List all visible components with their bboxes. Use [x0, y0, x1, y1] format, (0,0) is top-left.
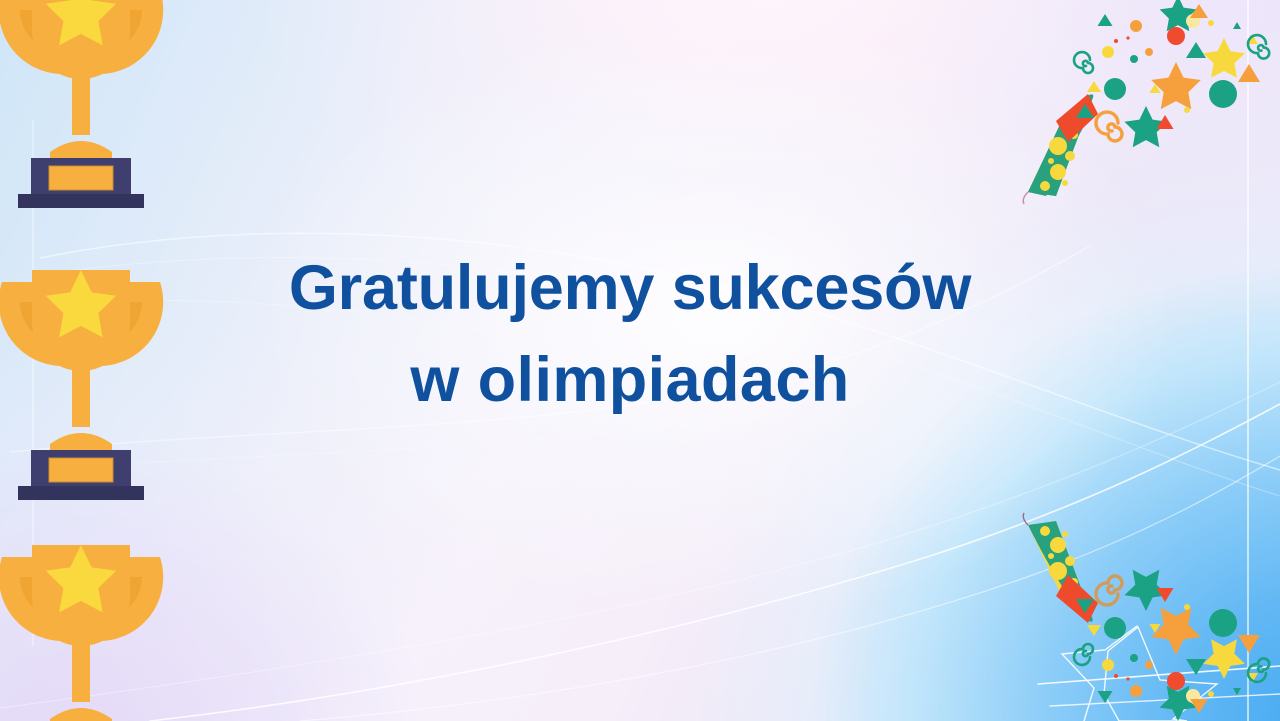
trophy-icon: [0, 0, 174, 213]
slide-canvas: Gratulujemy sukcesów w olimpiadach: [0, 0, 1280, 721]
slide-title: Gratulujemy sukcesów w olimpiadach: [185, 243, 1075, 427]
trophy-icon: [0, 505, 174, 721]
party-popper-icon: [1018, 509, 1280, 721]
slide-title-line-1: Gratulujemy sukcesów: [185, 243, 1075, 335]
slide-title-line-2: w olimpiadach: [185, 335, 1075, 427]
party-popper-icon: [1018, 0, 1280, 208]
trophy-icon: [0, 230, 174, 505]
